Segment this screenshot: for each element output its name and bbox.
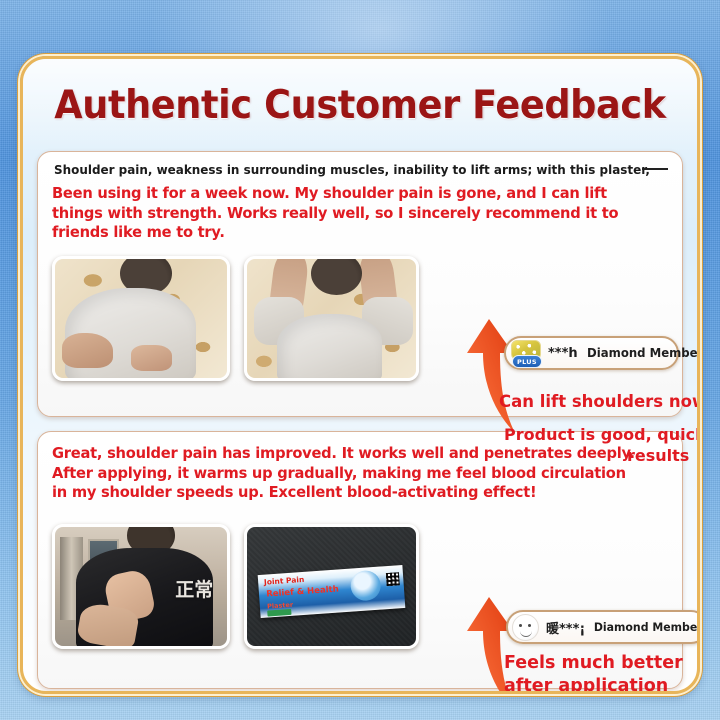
review-2-photo-2[interactable]: Joint Pain Relief & Health Plaster	[244, 524, 419, 649]
review-1-caption-3: results	[627, 446, 689, 465]
member-badge-1[interactable]: PLUS ***h Diamond Member	[504, 336, 679, 370]
member-level-2: Diamond Member	[594, 620, 700, 634]
review-1-caption-1: Can lift shoulders now	[499, 392, 700, 411]
product-box-body-diagram-icon	[350, 570, 382, 602]
photo-hand	[131, 345, 172, 371]
page-title: Authentic Customer Feedback	[43, 83, 677, 128]
member-level-1: Diamond Member	[587, 346, 700, 360]
plus-member-avatar-icon: PLUS	[510, 340, 542, 366]
curved-up-arrow-icon-1	[457, 317, 521, 437]
product-box-green-bar	[267, 609, 291, 617]
product-box-line-1: Joint Pain	[263, 574, 304, 586]
photo-arm	[62, 333, 114, 369]
review-2-body: Great, shoulder pain has improved. It wo…	[52, 444, 645, 503]
photo-head	[311, 256, 362, 295]
photo-shirt-text: 正常	[175, 575, 213, 602]
plus-tag-label: PLUS	[512, 355, 542, 368]
content-frame: Authentic Customer Feedback Shoulder pai…	[20, 56, 700, 694]
review-1-caption-2: Product is good, quick	[504, 425, 700, 444]
review-2-caption-2: after application	[504, 676, 668, 694]
review-2-photo-1[interactable]: 正常	[52, 524, 230, 649]
review-1-photo-1[interactable]	[52, 256, 230, 381]
review-1-photos	[52, 256, 419, 381]
smiley-face-avatar-icon	[512, 614, 539, 641]
review-1-strike-mark	[642, 168, 668, 170]
review-1-body: Been using it for a week now. My shoulde…	[52, 184, 645, 243]
member-badge-2[interactable]: 暖***¡ Diamond Member	[506, 610, 700, 644]
photo-shirt	[277, 314, 382, 381]
review-1-lead-line: Shoulder pain, weakness in surrounding m…	[54, 162, 647, 177]
member-username-1: ***h	[548, 346, 578, 361]
qr-code-icon	[386, 572, 400, 586]
review-2-photos: 正常 Joint Pain Relief & Health Plaster	[52, 524, 419, 649]
review-card-2: Great, shoulder pain has improved. It wo…	[37, 431, 683, 689]
review-1-photo-2[interactable]	[244, 256, 419, 381]
product-box-line-2: Relief & Health	[266, 585, 339, 600]
review-2-caption-1: Feels much better	[504, 653, 683, 673]
member-username-2: 暖***¡	[546, 618, 585, 637]
review-card-1: Shoulder pain, weakness in surrounding m…	[37, 151, 683, 417]
